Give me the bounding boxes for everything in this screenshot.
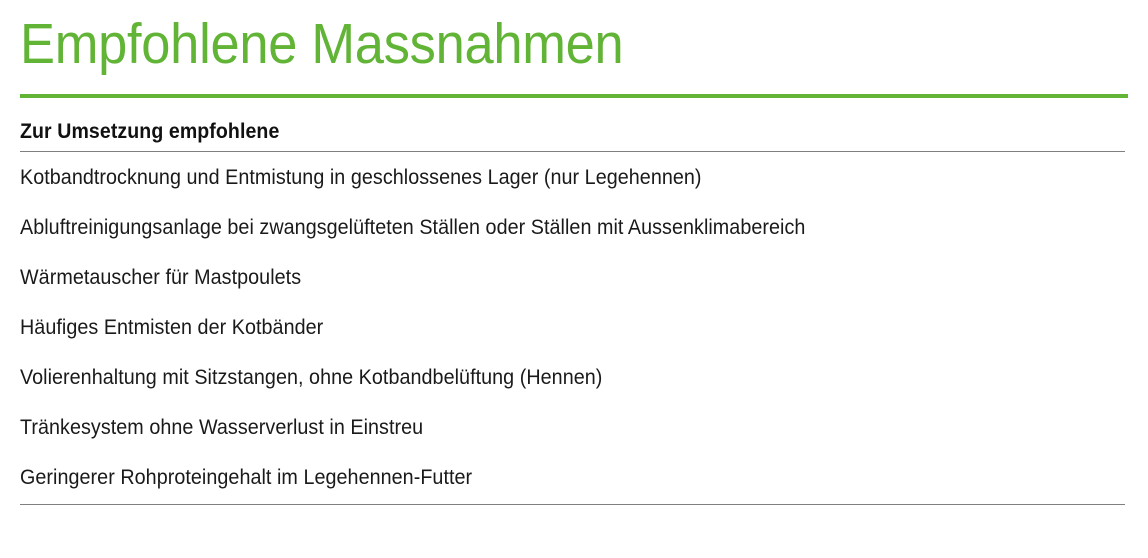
list-item: Tränkesystem ohne Wasserverlust in Einst… [20,402,1125,452]
measures-table: Zur Umsetzung empfohlene Kotbandtrocknun… [20,118,1125,505]
measures-list: Kotbandtrocknung und Entmistung in gesch… [20,152,1125,502]
table-bottom-divider [20,504,1125,505]
title-accent-rule [20,94,1128,98]
list-item: Häufiges Entmisten der Kotbänder [20,302,1125,352]
title-block: Empfohlene Massnahmen [20,0,1128,98]
page-root: Empfohlene Massnahmen Zur Umsetzung empf… [0,0,1148,558]
list-item: Wärmetauscher für Mastpoulets [20,252,1125,302]
page-title: Empfohlene Massnahmen [20,8,1039,80]
measure-label: Volierenhaltung mit Sitzstangen, ohne Ko… [20,366,602,390]
measure-label: Geringerer Rohproteingehalt im Legehenne… [20,466,472,490]
measure-label: Kotbandtrocknung und Entmistung in gesch… [20,166,702,190]
list-item: Kotbandtrocknung und Entmistung in gesch… [20,152,1125,202]
measure-label: Tränkesystem ohne Wasserverlust in Einst… [20,416,423,440]
measure-label: Abluftreinigungsanlage bei zwangsgelüfte… [20,216,805,240]
list-item: Volierenhaltung mit Sitzstangen, ohne Ko… [20,352,1125,402]
measure-label: Wärmetauscher für Mastpoulets [20,266,301,290]
list-item: Abluftreinigungsanlage bei zwangsgelüfte… [20,202,1125,252]
measures-column-header: Zur Umsetzung empfohlene [20,118,1048,151]
list-item: Geringerer Rohproteingehalt im Legehenne… [20,452,1125,502]
measure-label: Häufiges Entmisten der Kotbänder [20,316,323,340]
